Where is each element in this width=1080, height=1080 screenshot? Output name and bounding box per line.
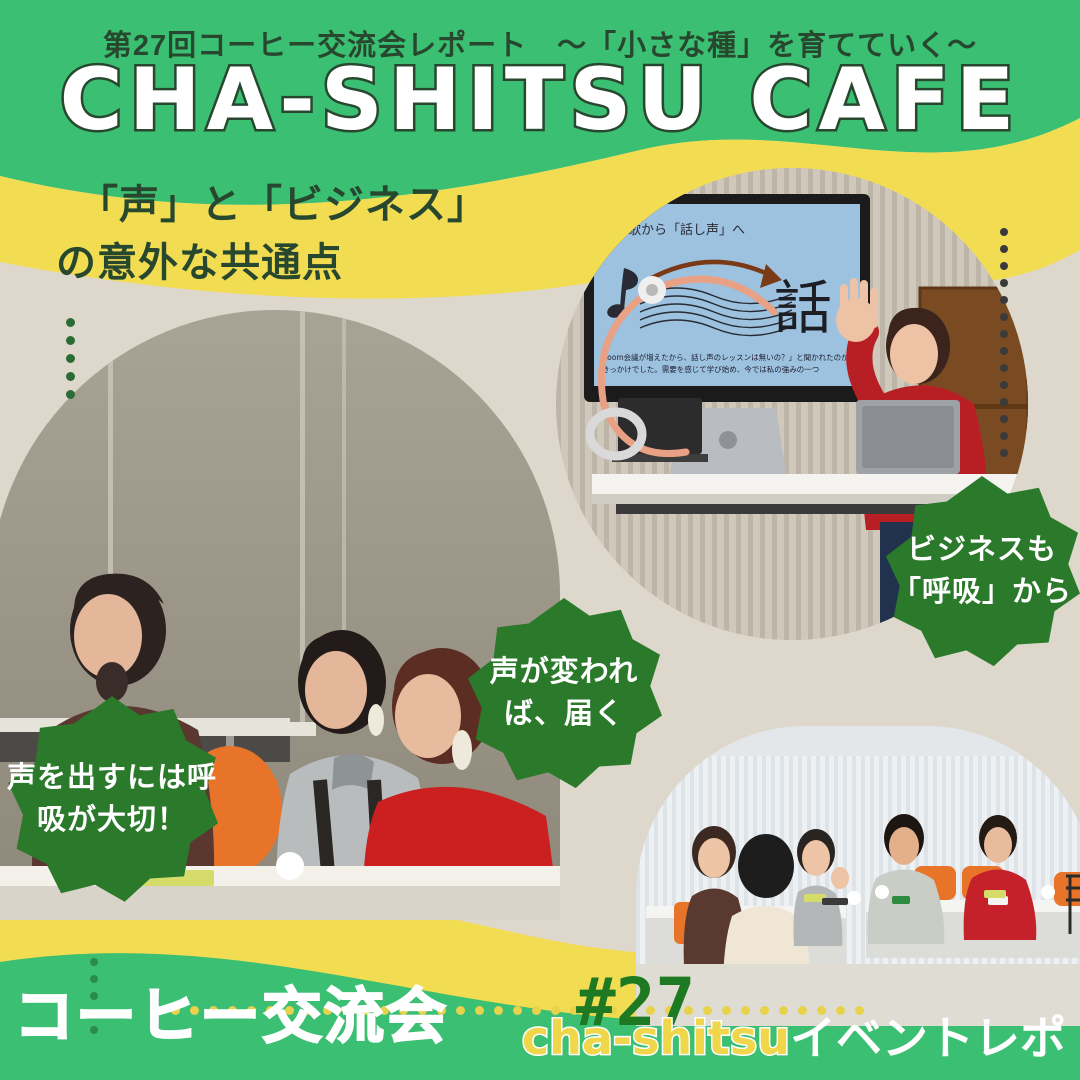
footer-brand-suffix: イベントレポ: [790, 1011, 1066, 1065]
poster-header: 第27回コーヒー交流会レポート ～「小さな種」を育てていく～ CHA-SHITS…: [0, 0, 1080, 150]
poster-canvas: 第27回コーヒー交流会レポート ～「小さな種」を育てていく～ CHA-SHITS…: [0, 0, 1080, 1080]
svg-text:話: 話: [774, 274, 832, 342]
badge-business: ビジネスも「呼吸」から: [884, 474, 1080, 670]
subtitle-line-2: の意外な共通点: [56, 234, 488, 292]
badge-voice: 声が変われば、届く: [466, 596, 662, 792]
badge-breath: 声を出すには呼吸が大切！: [6, 694, 218, 906]
poster-footer: コーヒー交流会 #27 cha-shitsuイベントレポ: [0, 950, 1080, 1080]
subtitle-line-1: 「声」と「ビジネス」: [78, 176, 488, 234]
svg-text:Zoom会議が増えたから、話し声のレッスンは無いの？」と聞か: Zoom会議が増えたから、話し声のレッスンは無いの？」と聞かれたのが: [602, 352, 849, 362]
dot-decoration-left-top: [66, 318, 75, 399]
badge-breath-text: 声を出すには呼吸が大切！: [6, 758, 218, 842]
dot-decoration-right-vertical: [1000, 228, 1008, 457]
footer-brand: cha-shitsuイベントレポ: [522, 1002, 1066, 1068]
badge-business-text: ビジネスも「呼吸」から: [884, 530, 1080, 614]
svg-text:きっかけでした。需要を感じて学び始め、今では私の強みの一つ: きっかけでした。需要を感じて学び始め、今では私の強みの一つ: [602, 364, 819, 374]
badge-voice-text: 声が変われば、届く: [466, 652, 662, 736]
footer-brand-mark: cha-shitsu: [522, 1011, 790, 1065]
subtitle: 「声」と「ビジネス」 の意外な共通点: [78, 176, 488, 293]
svg-text:歌から「話し声」へ: 歌から「話し声」へ: [628, 222, 745, 238]
page-title: CHA-SHITSU CAFE: [0, 50, 1080, 150]
footer-event-label: コーヒー交流会: [14, 968, 448, 1055]
